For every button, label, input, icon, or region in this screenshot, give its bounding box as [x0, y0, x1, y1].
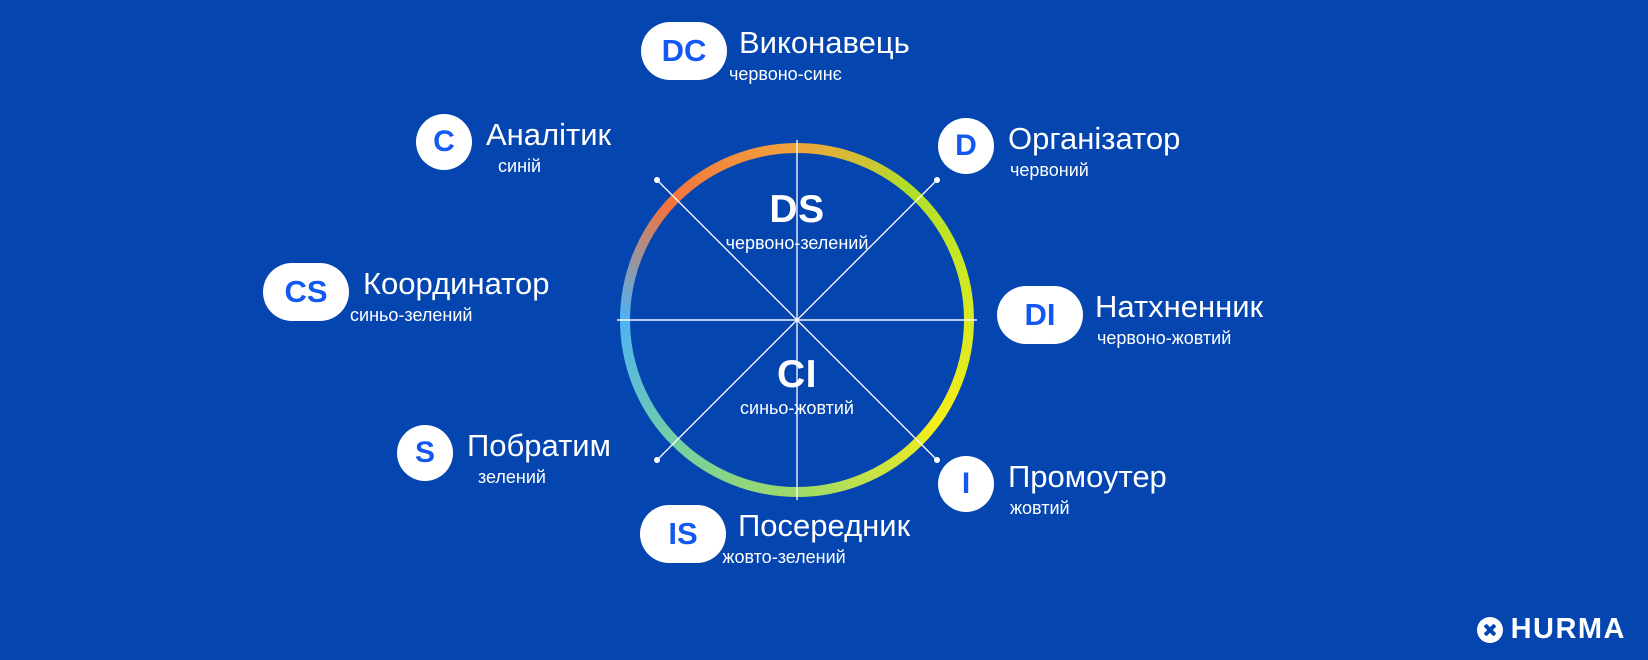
- node-d[interactable]: D Організатор червоний: [938, 118, 1180, 181]
- node-sub-s: зелений: [413, 467, 611, 488]
- node-sub-dc: червоно-синє: [661, 64, 910, 85]
- infographic-canvas: DS червоно-зелений CI синьо-жовтий DC Ви…: [0, 0, 1648, 660]
- node-i[interactable]: I Промоутер жовтий: [938, 456, 1167, 519]
- brand-name: HURMA: [1511, 613, 1626, 646]
- node-title-cs: Координатор: [363, 267, 549, 301]
- x-circle-icon: [1477, 617, 1503, 643]
- disc-color-wheel: DS червоно-зелений CI синьо-жовтий: [617, 140, 977, 500]
- node-sub-cs: синьо-зелений: [273, 305, 549, 326]
- node-di[interactable]: DI Натхненник червоно-жовтий: [997, 286, 1263, 349]
- badge-i: I: [938, 456, 994, 512]
- node-title-d: Організатор: [1008, 122, 1180, 156]
- node-s[interactable]: S Побратим зелений: [397, 425, 611, 488]
- node-title-di: Натхненник: [1095, 290, 1263, 324]
- node-dc[interactable]: DC Виконавець червоно-синє: [641, 22, 910, 85]
- wheel-svg: [617, 140, 977, 500]
- node-title-i: Промоутер: [1008, 460, 1167, 494]
- node-title-is: Посередник: [738, 509, 910, 543]
- node-sub-c: синій: [428, 156, 611, 177]
- node-cs[interactable]: CS Координатор синьо-зелений: [263, 263, 549, 326]
- node-sub-i: жовтий: [1010, 498, 1167, 519]
- node-sub-is: жовто-зелений: [658, 547, 910, 568]
- node-is[interactable]: IS Посередник жовто-зелений: [640, 505, 910, 568]
- node-sub-di: червоно-жовтий: [1097, 328, 1263, 349]
- node-c[interactable]: C Аналітик синій: [416, 114, 611, 177]
- node-title-s: Побратим: [467, 429, 611, 463]
- wheel-spokes: [617, 140, 977, 500]
- brand-logo: HURMA: [1477, 613, 1626, 646]
- badge-d: D: [938, 118, 994, 174]
- node-sub-d: червоний: [1010, 160, 1180, 181]
- node-title-c: Аналітик: [486, 118, 611, 152]
- node-title-dc: Виконавець: [739, 26, 910, 60]
- badge-di: DI: [997, 286, 1083, 344]
